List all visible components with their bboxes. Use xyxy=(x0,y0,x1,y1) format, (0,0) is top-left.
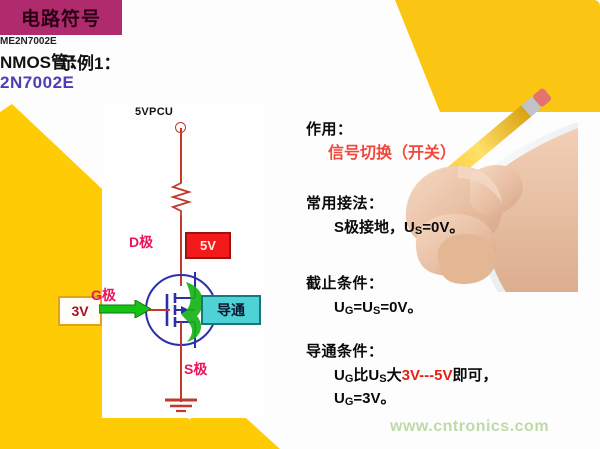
section-role-line: 信号切换（开关） xyxy=(328,144,456,163)
section-conduction-heading: 导通条件： xyxy=(306,340,498,361)
ground-symbol-icon xyxy=(164,398,198,414)
wire-supply-to-resistor xyxy=(180,128,182,182)
cutoff-eq1: = xyxy=(353,299,362,316)
slide-canvas: 电路符号 示例1： 5VPCU PR79 100K/F_4 D极 5V xyxy=(0,0,600,449)
resistor-symbol xyxy=(170,180,192,218)
drain-voltage-box: 5V xyxy=(185,232,231,259)
cutoff-u2: U xyxy=(362,299,373,316)
gate-drive-arrow-icon xyxy=(99,300,151,318)
cutoff-eq2: =0V。 xyxy=(380,299,422,316)
cond-subscript-s: S xyxy=(379,373,386,385)
wire-resistor-to-drain xyxy=(180,216,182,246)
section-conduction: 导通条件： UG比US大3V---5V即可， UG=3V。 xyxy=(306,340,498,412)
section-role-heading: 作用： xyxy=(306,118,456,139)
conduction-line-1: UG比US大3V---5V即可， xyxy=(334,366,498,389)
conduction-line-2: UG=3V。 xyxy=(334,389,498,412)
source-terminal-label: S极 xyxy=(184,359,207,379)
header-banner: 电路符号 xyxy=(0,0,122,35)
section-usage-heading: 常用接法： xyxy=(306,192,464,213)
usage-u-letter: U xyxy=(404,219,415,236)
example-label: 示例1： xyxy=(60,49,120,74)
usage-rest-text: 极接地， xyxy=(344,219,404,236)
cond-tail-text: 即可， xyxy=(452,367,497,384)
cond-value-text: =3V。 xyxy=(353,390,395,407)
yellow-shape-left xyxy=(0,104,118,449)
cond-big-text: 大 xyxy=(387,367,402,384)
cond-u2: U xyxy=(368,367,379,384)
section-usage-line: S极接地，US=0V。 xyxy=(334,218,464,241)
state-box-conducting: 导通 xyxy=(201,295,261,325)
section-cutoff-line: UG=US=0V。 xyxy=(334,298,422,321)
cond-mid-text: 比 xyxy=(353,367,368,384)
cond-voltage-range: 3V---5V xyxy=(402,367,453,384)
usage-equals-text: =0V。 xyxy=(422,219,464,236)
supply-rail-label: 5VPCU xyxy=(135,106,173,118)
header-banner-title: 电路符号 xyxy=(21,4,101,31)
section-role: 作用： 信号切换（开关） xyxy=(306,118,456,163)
section-cutoff: 截止条件： UG=US=0V。 xyxy=(306,272,422,321)
drain-terminal-label: D极 xyxy=(129,232,153,252)
section-conduction-lines: UG比US大3V---5V即可， UG=3V。 xyxy=(334,366,498,412)
wire-source-to-ground xyxy=(180,322,182,402)
section-cutoff-heading: 截止条件： xyxy=(306,272,422,293)
wire-gate xyxy=(148,309,170,311)
section-usage: 常用接法： S极接地，US=0V。 xyxy=(306,192,464,241)
cond-u3: U xyxy=(334,390,345,407)
watermark-text: www.cntronics.com xyxy=(390,418,549,436)
cond-u1: U xyxy=(334,367,345,384)
cutoff-u1: U xyxy=(334,299,345,316)
usage-s-letter: S xyxy=(334,219,344,236)
